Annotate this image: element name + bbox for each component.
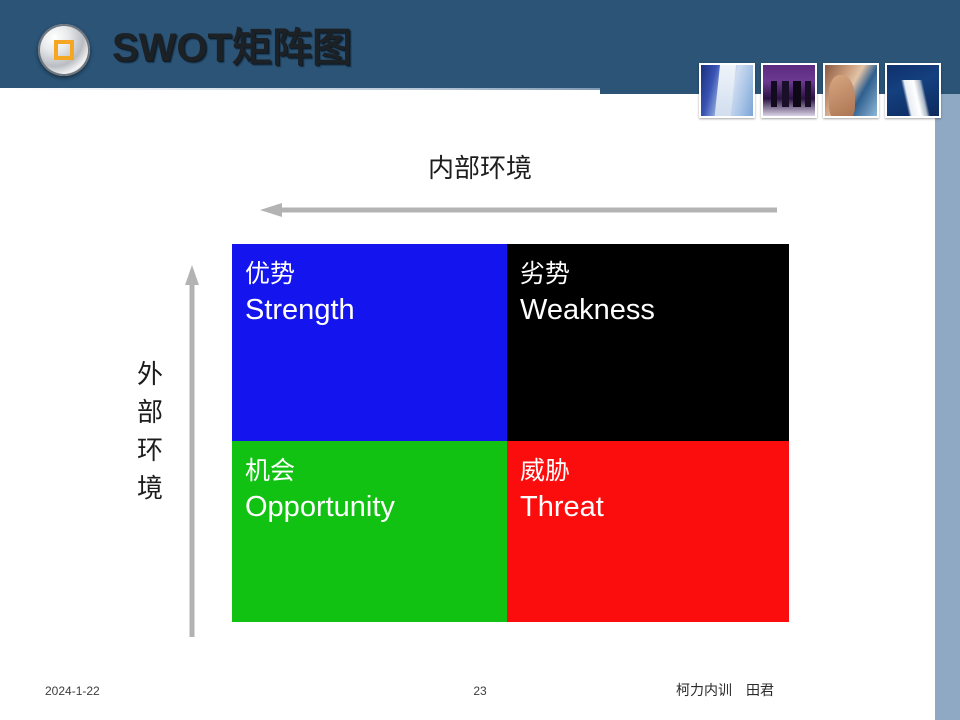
header-thumbnail-strip: [699, 63, 941, 118]
page-title: SWOT矩阵图: [112, 22, 352, 74]
swot-quadrant-opportunity[interactable]: 机会 Opportunity: [232, 441, 507, 622]
external-label-char-3: 环: [134, 432, 166, 470]
external-label-char-1: 外: [134, 356, 166, 394]
quadrant-label-en: Opportunity: [245, 486, 507, 528]
arrow-up-icon: [185, 263, 199, 638]
external-environment-label: 外 部 环 境: [134, 356, 166, 508]
swot-quadrant-threat[interactable]: 威胁 Threat: [507, 441, 789, 622]
white-tower-sky-photo: [885, 63, 941, 118]
slide-canvas: SWOT矩阵图 内部环境 外 部 环 境 优势 Strength 劣势 Weak…: [0, 0, 960, 720]
quadrant-label-en: Threat: [520, 486, 789, 528]
external-label-char-4: 境: [134, 470, 166, 508]
swot-quadrant-weakness[interactable]: 劣势 Weakness: [507, 244, 789, 441]
internal-environment-label: 内部环境: [0, 148, 960, 185]
brand-badge: [38, 24, 90, 76]
quadrant-label-en: Strength: [245, 289, 507, 331]
swot-quadrant-strength[interactable]: 优势 Strength: [232, 244, 507, 441]
swot-matrix: 优势 Strength 劣势 Weakness 机会 Opportunity 威…: [232, 244, 789, 622]
quadrant-label-cn: 劣势: [520, 258, 789, 289]
footer-note: 柯力内训 田君: [590, 680, 860, 700]
quadrant-label-cn: 机会: [245, 455, 507, 486]
glass-skyscraper-photo: [699, 63, 755, 118]
quadrant-label-en: Weakness: [520, 289, 789, 331]
person-on-phone-photo: [823, 63, 879, 118]
arrow-left-icon: [258, 203, 778, 217]
night-city-skyline-photo: [761, 63, 817, 118]
external-label-char-2: 部: [134, 394, 166, 432]
quadrant-label-cn: 优势: [245, 258, 507, 289]
quadrant-label-cn: 威胁: [520, 455, 789, 486]
header-underline: [0, 88, 600, 90]
square-outline-icon: [54, 40, 74, 60]
